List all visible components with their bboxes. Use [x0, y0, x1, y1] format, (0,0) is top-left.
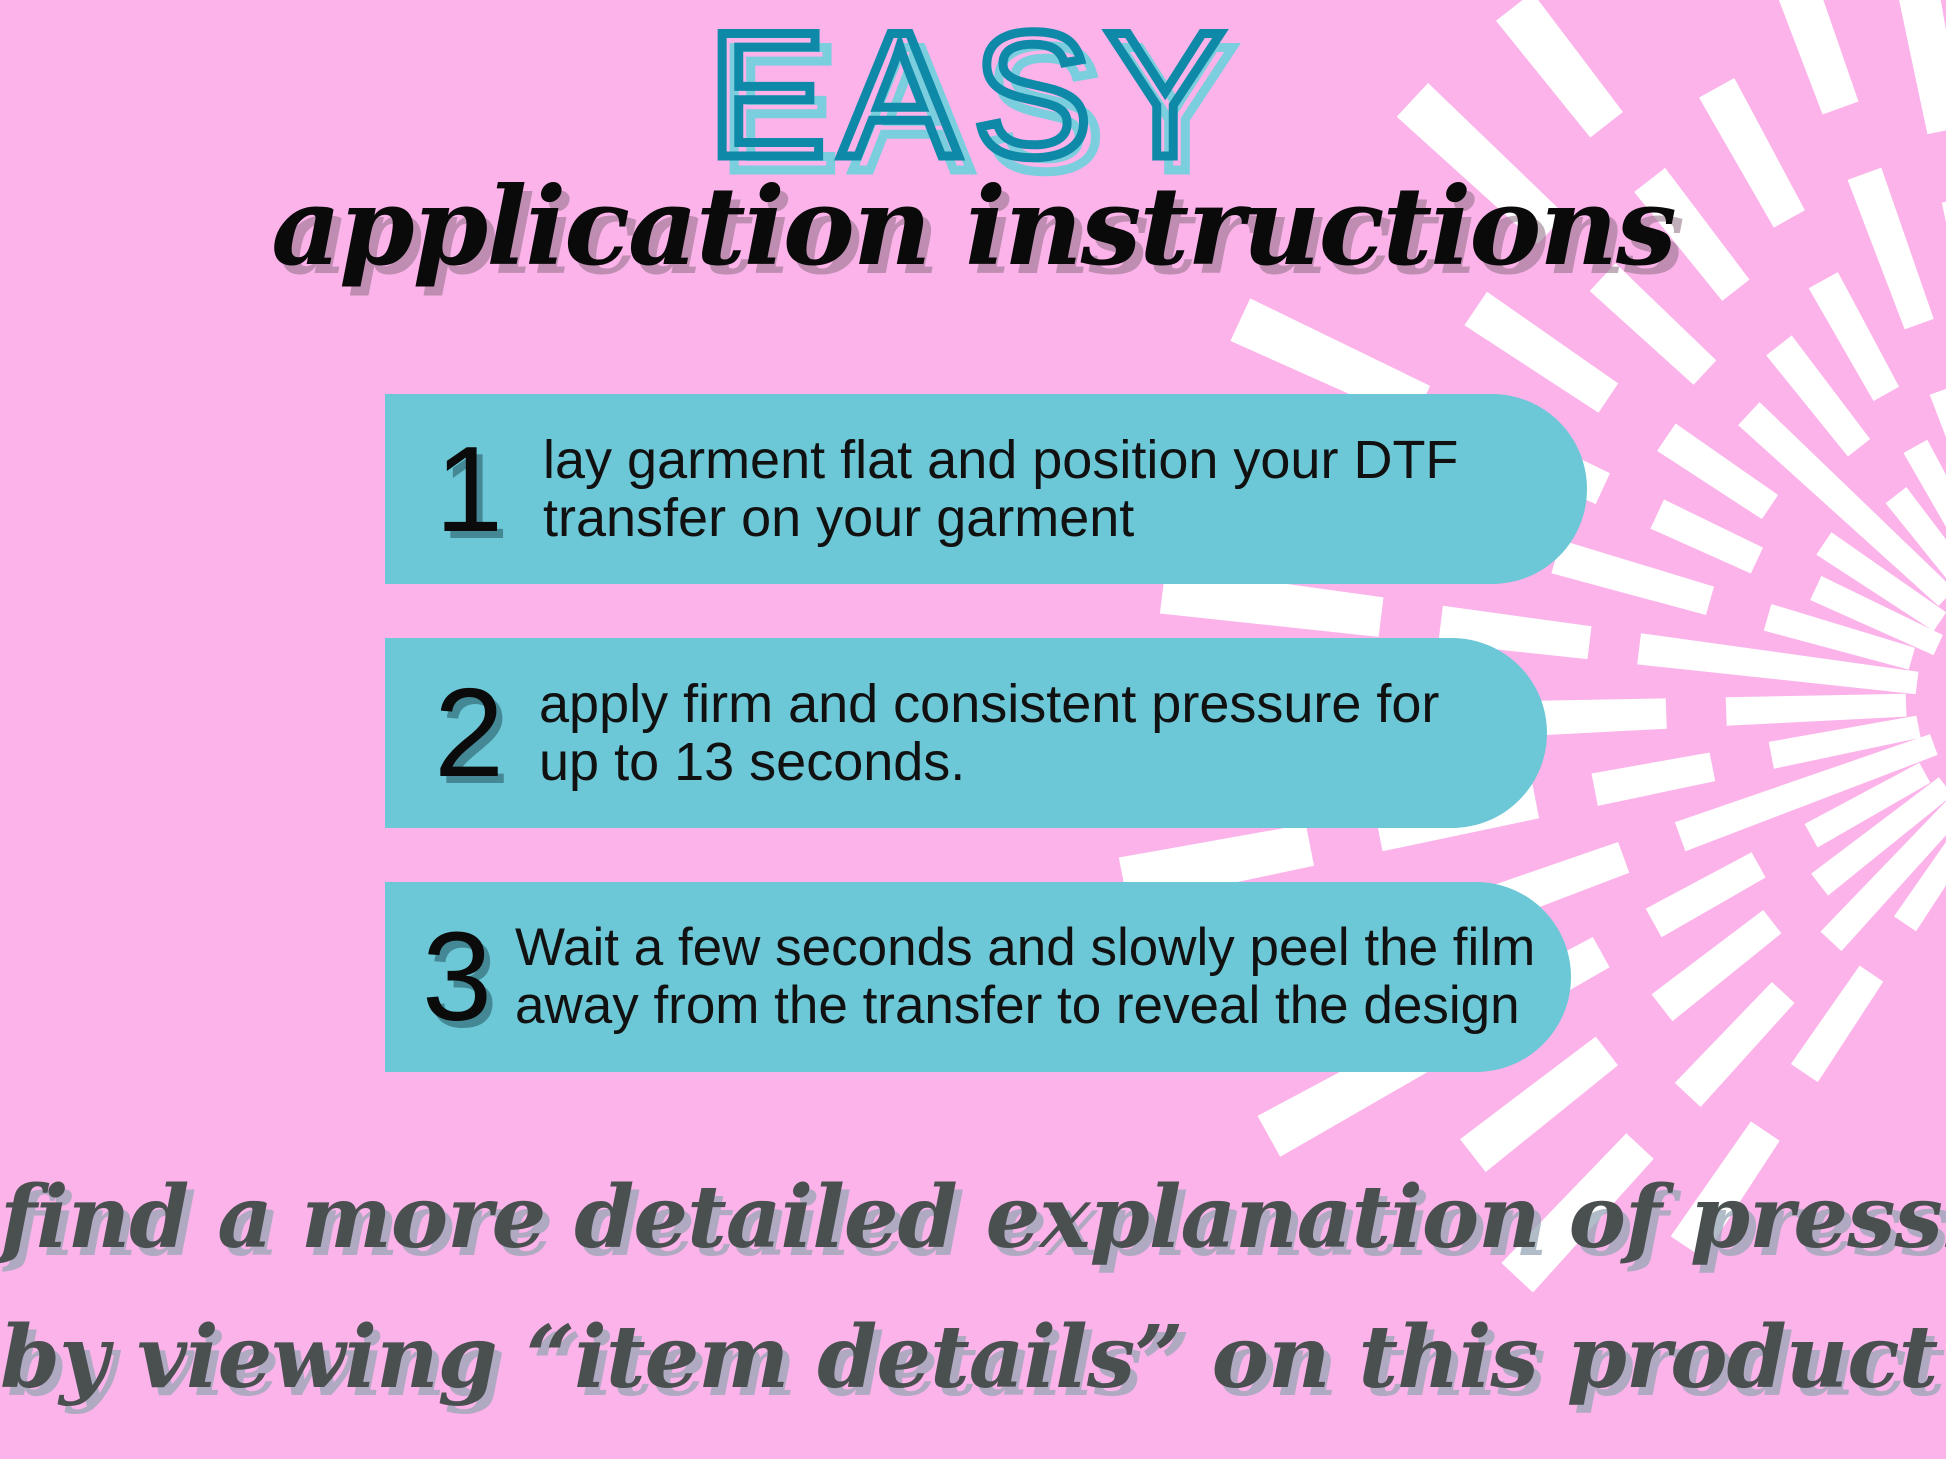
- page-title: EASY: [0, 6, 1946, 184]
- footer-note: find a more detailed explanation of pres…: [0, 1148, 1946, 1428]
- step-item-3: 3 Wait a few seconds and slowly peel the…: [385, 882, 1571, 1072]
- step-number-2: 2: [409, 678, 529, 788]
- step-text-2: apply firm and consistent pressure for u…: [539, 675, 1547, 791]
- step-number-1: 1: [409, 434, 529, 544]
- step-text-3: Wait a few seconds and slowly peel the f…: [515, 919, 1571, 1035]
- footer-line-2: by viewing “item details” on this produc…: [0, 1288, 1946, 1428]
- step-number-3: 3: [407, 922, 507, 1032]
- step-text-1: lay garment flat and position your DTF t…: [543, 431, 1587, 547]
- poster-canvas: EASY EASY application instructions 1 lay…: [0, 0, 1946, 1459]
- step-item-2: 2 apply firm and consistent pressure for…: [385, 638, 1547, 828]
- footer-line-1: find a more detailed explanation of pres…: [0, 1148, 1946, 1288]
- page-subtitle: application instructions: [0, 168, 1946, 286]
- step-item-1: 1 lay garment flat and position your DTF…: [385, 394, 1587, 584]
